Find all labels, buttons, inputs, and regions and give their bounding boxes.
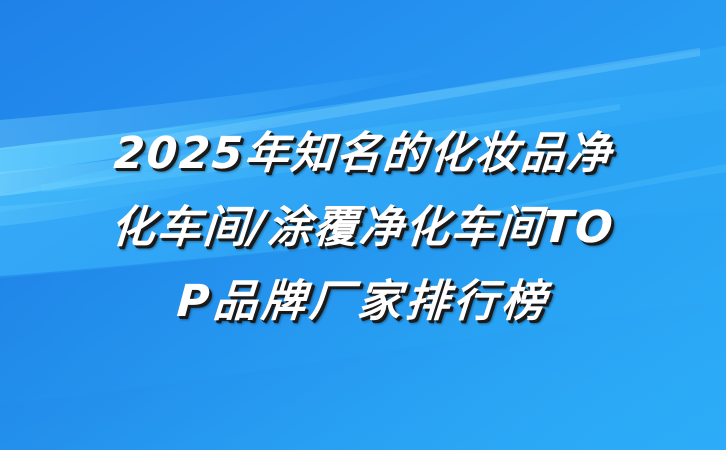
title-line-1: 2025年知名的化妆品净 (111, 117, 615, 191)
title-line-3: P品牌厂家排行榜 (174, 265, 551, 339)
banner-title: 2025年知名的化妆品净 化车间/涂覆净化车间TO P品牌厂家排行榜 (0, 0, 726, 450)
title-line-2: 化车间/涂覆净化车间TO (109, 191, 618, 265)
promo-banner: 2025年知名的化妆品净 化车间/涂覆净化车间TO P品牌厂家排行榜 (0, 0, 726, 450)
